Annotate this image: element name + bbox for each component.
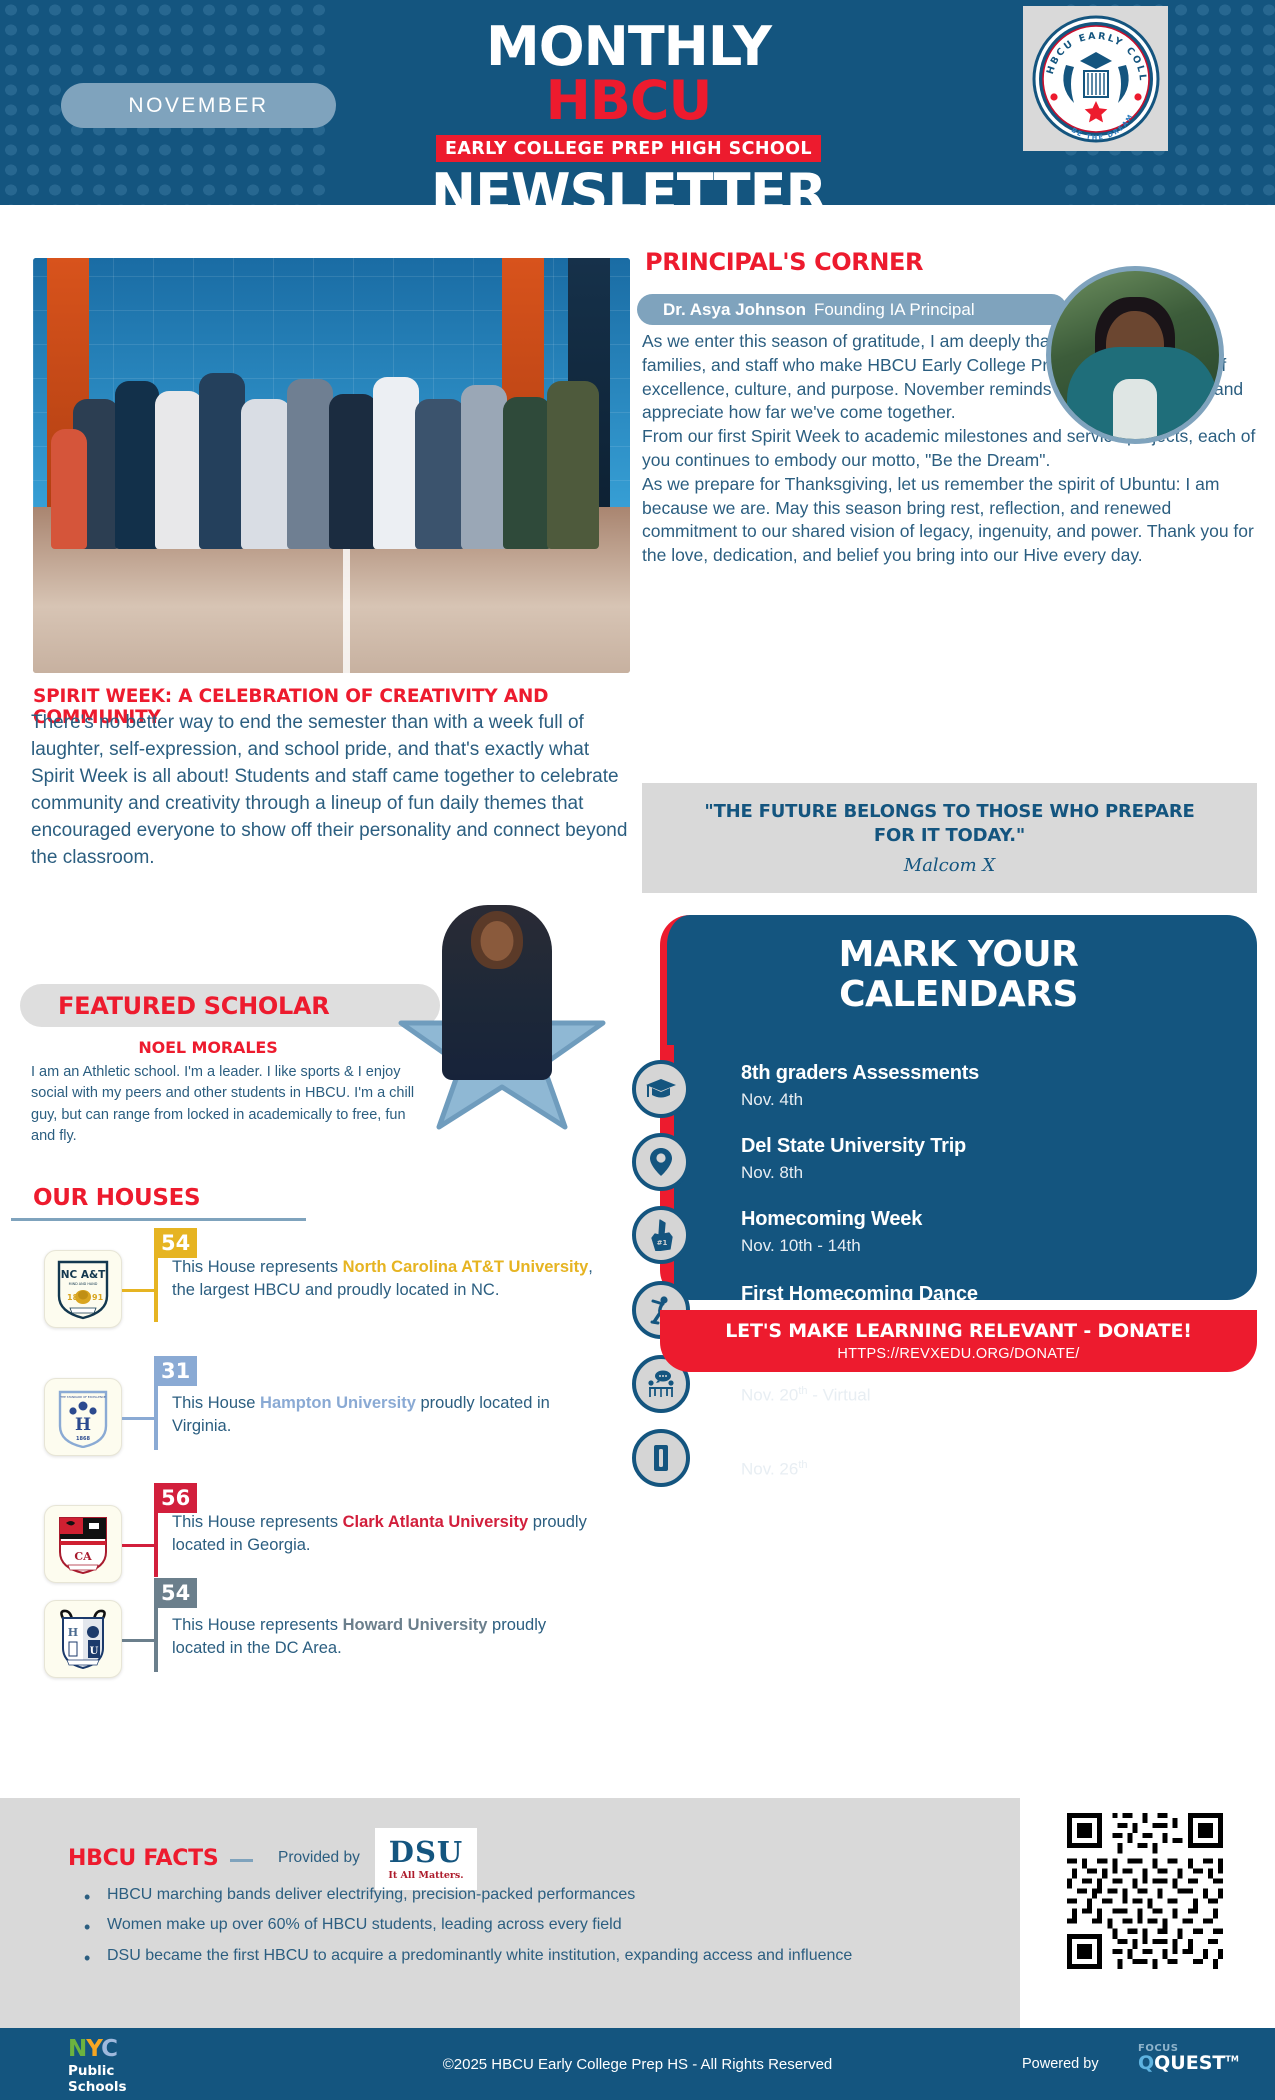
powered-by-label: Powered by (1022, 2056, 1099, 2072)
house-logo-abbr: H (75, 1415, 91, 1435)
map-pin-icon (632, 1133, 690, 1191)
house-university-name: North Carolina AT&T University (343, 1258, 589, 1276)
focusquest-logo: FOCUS QQUESTTM (1138, 2044, 1239, 2074)
calendar-event[interactable]: Del State University Trip Nov. 8th (632, 1133, 1252, 1207)
house-text-before: This House represents (172, 1616, 343, 1634)
svg-text:91: 91 (92, 1293, 104, 1302)
calendar-event-date: Nov. 8th (741, 1163, 803, 1183)
graduation-cap-icon (632, 1060, 690, 1118)
house-description: This House represents North Carolina AT&… (172, 1256, 602, 1302)
students-crowd (33, 349, 630, 548)
calendar-event-date: Nov. 4th (741, 1090, 803, 1110)
month-badge: NOVEMBER (61, 83, 336, 128)
calendar-event-name: HBCU Harvest (741, 1431, 875, 1454)
principal-role: Founding IA Principal (814, 300, 975, 320)
house-logo-abbr: CA (74, 1550, 92, 1563)
donate-title: LET'S MAKE LEARNING RELEVANT - DONATE! (725, 1320, 1191, 1342)
calendar-event[interactable]: #1 Homecoming Week Nov. 10th - 14th (632, 1206, 1252, 1280)
masthead-hbcu: HBCU (546, 69, 712, 132)
howard-crest-icon: H U (54, 1608, 112, 1670)
house-university-name: Howard University (343, 1616, 488, 1634)
house-connector (122, 1417, 157, 1420)
house-description: This House represents Clark Atlanta Univ… (172, 1511, 602, 1557)
donate-banner[interactable]: LET'S MAKE LEARNING RELEVANT - DONATE! H… (660, 1310, 1257, 1372)
house-count-badge: 54 (154, 1578, 197, 1608)
house-row: NC A&T MIND AND HAND 18 91 54 This House… (44, 1250, 624, 1338)
house-description: This House Hampton University proudly lo… (172, 1392, 602, 1438)
house-count-badge: 31 (154, 1356, 197, 1386)
house-count-badge: 54 (154, 1228, 197, 1258)
school-crest-container: HBCU EARLY COLLEGE PREP BE THE DREAM (1023, 6, 1168, 151)
house-logo-abbr: NC A&T (61, 1269, 106, 1281)
calendar-event-name: 8th graders Assessments (741, 1062, 979, 1085)
principals-corner-title: PRINCIPAL'S CORNER (645, 248, 923, 276)
nc-at-crest-icon: NC A&T MIND AND HAND 18 91 (54, 1258, 112, 1320)
calendar-event-date: Nov. 10th - 14th (741, 1236, 861, 1256)
principal-paragraph-3: As we prepare for Thanksgiving, let us r… (642, 473, 1257, 568)
house-university-name: Hampton University (260, 1394, 416, 1412)
calendar-title: MARK YOUR CALENDARS (660, 935, 1257, 1016)
dsu-logo-name: DSU (389, 1838, 463, 1867)
principal-name-badge: Dr. Asya Johnson Founding IA Principal (637, 294, 1067, 325)
donate-url[interactable]: HTTPS://REVXEDU.ORG/DONATE/ (837, 1346, 1079, 1362)
house-logo: THE STANDARD OF EXCELLENCE H 1868 (44, 1378, 122, 1456)
house-logo: NC A&T MIND AND HAND 18 91 (44, 1250, 122, 1328)
house-logo-abbr: U (90, 1646, 99, 1657)
featured-scholar-body: I am an Athletic school. I'm a leader. I… (31, 1062, 426, 1148)
featured-scholar-name: NOEL MORALES (33, 1038, 383, 1057)
featured-scholar-title: FEATURED SCHOLAR (58, 992, 329, 1020)
house-row: H U 54 This House represents Howard Univ… (44, 1600, 624, 1688)
house-logo: CA (44, 1505, 122, 1583)
month-label: NOVEMBER (128, 94, 268, 118)
house-text-before: This House (172, 1394, 260, 1412)
newsletter-page: NOVEMBER MONTHLY HBCU EARLY COLLEGE PREP… (0, 0, 1275, 2100)
house-row: THE STANDARD OF EXCELLENCE H 1868 31 Thi… (44, 1378, 624, 1466)
our-houses-divider (11, 1218, 306, 1221)
masthead-line-1: MONTHLY HBCU (406, 20, 851, 128)
calendar-event-name: Del State University Trip (741, 1135, 966, 1158)
qr-code[interactable] (1062, 1808, 1228, 1974)
svg-text:1868: 1868 (76, 1436, 90, 1442)
school-crest-icon: HBCU EARLY COLLEGE PREP BE THE DREAM (1030, 13, 1162, 145)
calendar-title-line1: MARK YOUR (660, 935, 1257, 975)
facts-provided-by-label: Provided by (278, 1849, 360, 1867)
svg-text:#1: #1 (657, 1239, 668, 1247)
our-houses-title: OUR HOUSES (33, 1185, 200, 1211)
svg-text:THE STANDARD OF EXCELLENCE: THE STANDARD OF EXCELLENCE (59, 1395, 106, 1399)
scholar-star-graphic (395, 905, 610, 1130)
house-connector (122, 1639, 157, 1642)
nyc-line-schools: Schools (68, 2080, 178, 2096)
svg-text:H: H (68, 1626, 78, 1639)
masthead-newsletter: NEWSLETTER (406, 167, 851, 205)
house-connector (122, 1544, 157, 1547)
principal-photo (1046, 266, 1224, 444)
list-item: DSU became the first HBCU to acquire a p… (72, 1941, 962, 1971)
dsu-logo-tagline: It All Matters. (388, 1870, 463, 1881)
quote-block: "THE FUTURE BELONGS TO THOSE WHO PREPARE… (642, 783, 1257, 893)
spirit-week-body: There's no better way to end the semeste… (31, 710, 631, 872)
hbcu-facts-title: HBCU FACTS (68, 1846, 218, 1871)
masthead-subtitle: EARLY COLLEGE PREP HIGH SCHOOL (436, 135, 821, 162)
harvest-icon (632, 1429, 690, 1487)
house-connector (122, 1289, 157, 1292)
hbcu-facts-list: HBCU marching bands deliver electrifying… (72, 1880, 962, 1971)
list-item: Women make up over 60% of HBCU students,… (72, 1910, 962, 1940)
house-row: CA 56 This House represents Clark Atlant… (44, 1505, 624, 1593)
quote-text: "THE FUTURE BELONGS TO THOSE WHO PREPARE… (702, 800, 1197, 847)
svg-text:MIND AND HAND: MIND AND HAND (69, 1282, 98, 1286)
spirit-week-photo (33, 258, 630, 673)
calendar-event-name: Homecoming Week (741, 1208, 922, 1231)
calendar-event[interactable]: 8th graders Assessments Nov. 4th (632, 1060, 1252, 1134)
facts-divider (230, 1859, 253, 1862)
calendar-title-line2: CALENDARS (660, 975, 1257, 1015)
house-logo: H U (44, 1600, 122, 1678)
calendar-event[interactable]: HBCU Harvest Nov. 26th (632, 1429, 1252, 1503)
featured-scholar-banner: FEATURED SCHOLAR (20, 984, 440, 1027)
hampton-crest-icon: THE STANDARD OF EXCELLENCE H 1868 (54, 1386, 112, 1448)
focusquest-main: QQUESTTM (1138, 2054, 1239, 2074)
list-item: HBCU marching bands deliver electrifying… (72, 1880, 962, 1910)
principal-name: Dr. Asya Johnson (663, 300, 806, 320)
house-text-before: This House represents (172, 1513, 343, 1531)
scholar-portrait (442, 905, 552, 1080)
clark-atlanta-crest-icon: CA (54, 1513, 112, 1575)
calendar-event-date: Nov. 26th (741, 1459, 808, 1480)
masthead: MONTHLY HBCU EARLY COLLEGE PREP HIGH SCH… (406, 20, 851, 205)
house-description: This House represents Howard University … (172, 1614, 602, 1660)
house-count-badge: 56 (154, 1483, 197, 1513)
foam-finger-icon: #1 (632, 1206, 690, 1264)
house-university-name: Clark Atlanta University (343, 1513, 529, 1531)
quote-author: Malcom X (904, 855, 995, 876)
calendar-event-date: Nov. 20th - Virtual (741, 1385, 871, 1406)
page-header: NOVEMBER MONTHLY HBCU EARLY COLLEGE PREP… (0, 0, 1275, 205)
calendar-event-name: First Homecoming Dance (741, 1283, 978, 1306)
house-text-before: This House represents (172, 1258, 343, 1276)
